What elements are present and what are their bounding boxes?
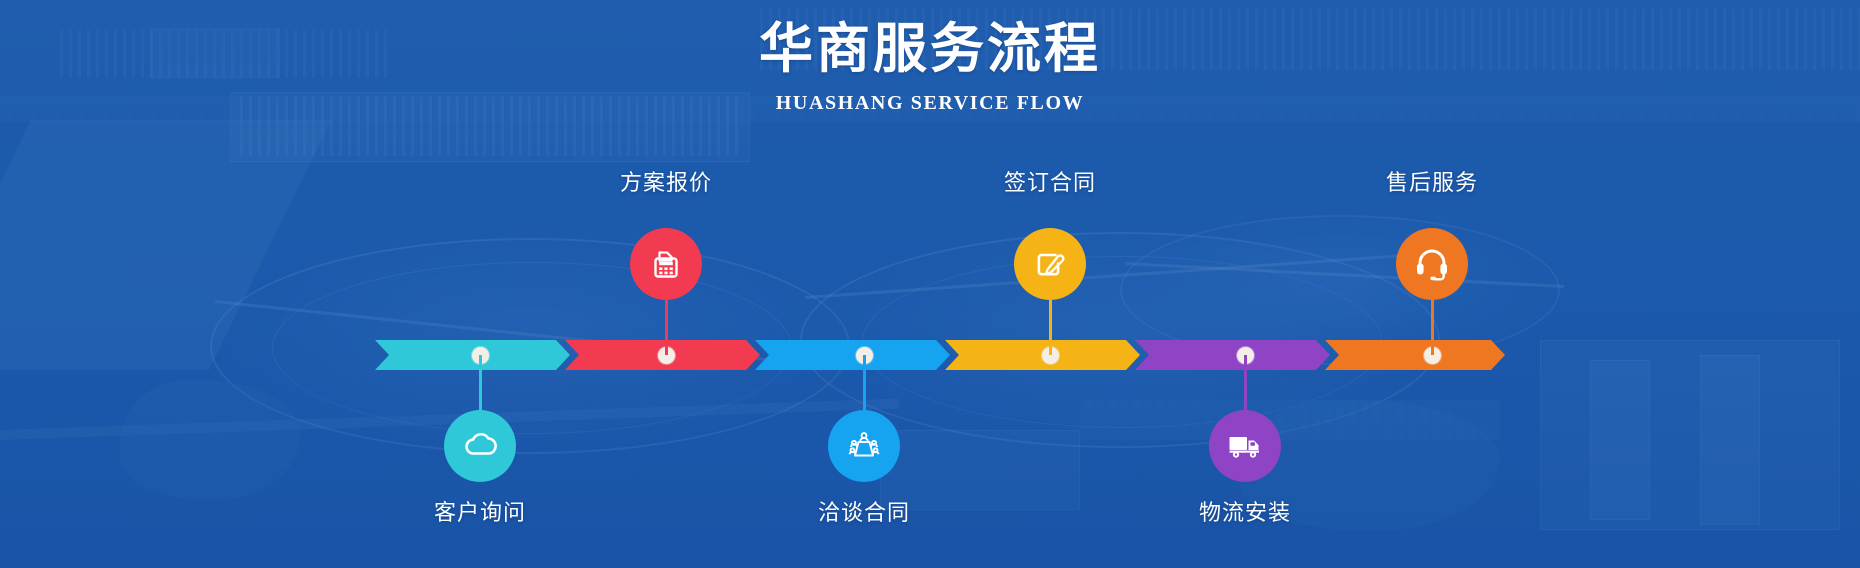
flow-label-5: 物流安装 xyxy=(1199,495,1291,527)
flow-bubble-3[interactable] xyxy=(828,410,900,482)
flow-bubble-6[interactable] xyxy=(1396,228,1468,300)
flow-stem-1 xyxy=(479,355,482,410)
flow-label-1: 客户询问 xyxy=(434,495,526,527)
flow-bubble-2[interactable] xyxy=(630,228,702,300)
flow-stem-3 xyxy=(863,355,866,410)
calculator-receipt-icon xyxy=(646,244,686,284)
flow-bubble-5[interactable] xyxy=(1209,410,1281,482)
flow-arrow-6[interactable] xyxy=(1325,340,1505,370)
flow-arrow-strip xyxy=(0,0,1860,568)
flow-label-4: 签订合同 xyxy=(1004,165,1096,197)
flow-label-6: 售后服务 xyxy=(1386,165,1478,197)
headset-support-icon xyxy=(1411,243,1453,285)
flow-arrow-3[interactable] xyxy=(755,340,950,370)
flow-bubble-4[interactable] xyxy=(1014,228,1086,300)
delivery-truck-icon xyxy=(1224,425,1266,467)
flow-stem-6 xyxy=(1431,300,1434,355)
flow-arrow-5[interactable] xyxy=(1135,340,1330,370)
meeting-table-icon xyxy=(844,426,884,466)
flow-stem-2 xyxy=(665,300,668,355)
service-flow-diagram: 客户询问 方案报价 xyxy=(0,0,1860,568)
flow-stem-5 xyxy=(1244,355,1247,410)
flow-label-2: 方案报价 xyxy=(620,165,712,197)
pen-edit-square-icon xyxy=(1030,244,1070,284)
flow-bubble-1[interactable] xyxy=(444,410,516,482)
flow-label-3: 洽谈合同 xyxy=(818,495,910,527)
flow-stem-4 xyxy=(1049,300,1052,355)
cloud-icon xyxy=(460,426,500,466)
service-flow-banner: 华商服务流程 HUASHANG SERVICE FLOW xyxy=(0,0,1860,568)
